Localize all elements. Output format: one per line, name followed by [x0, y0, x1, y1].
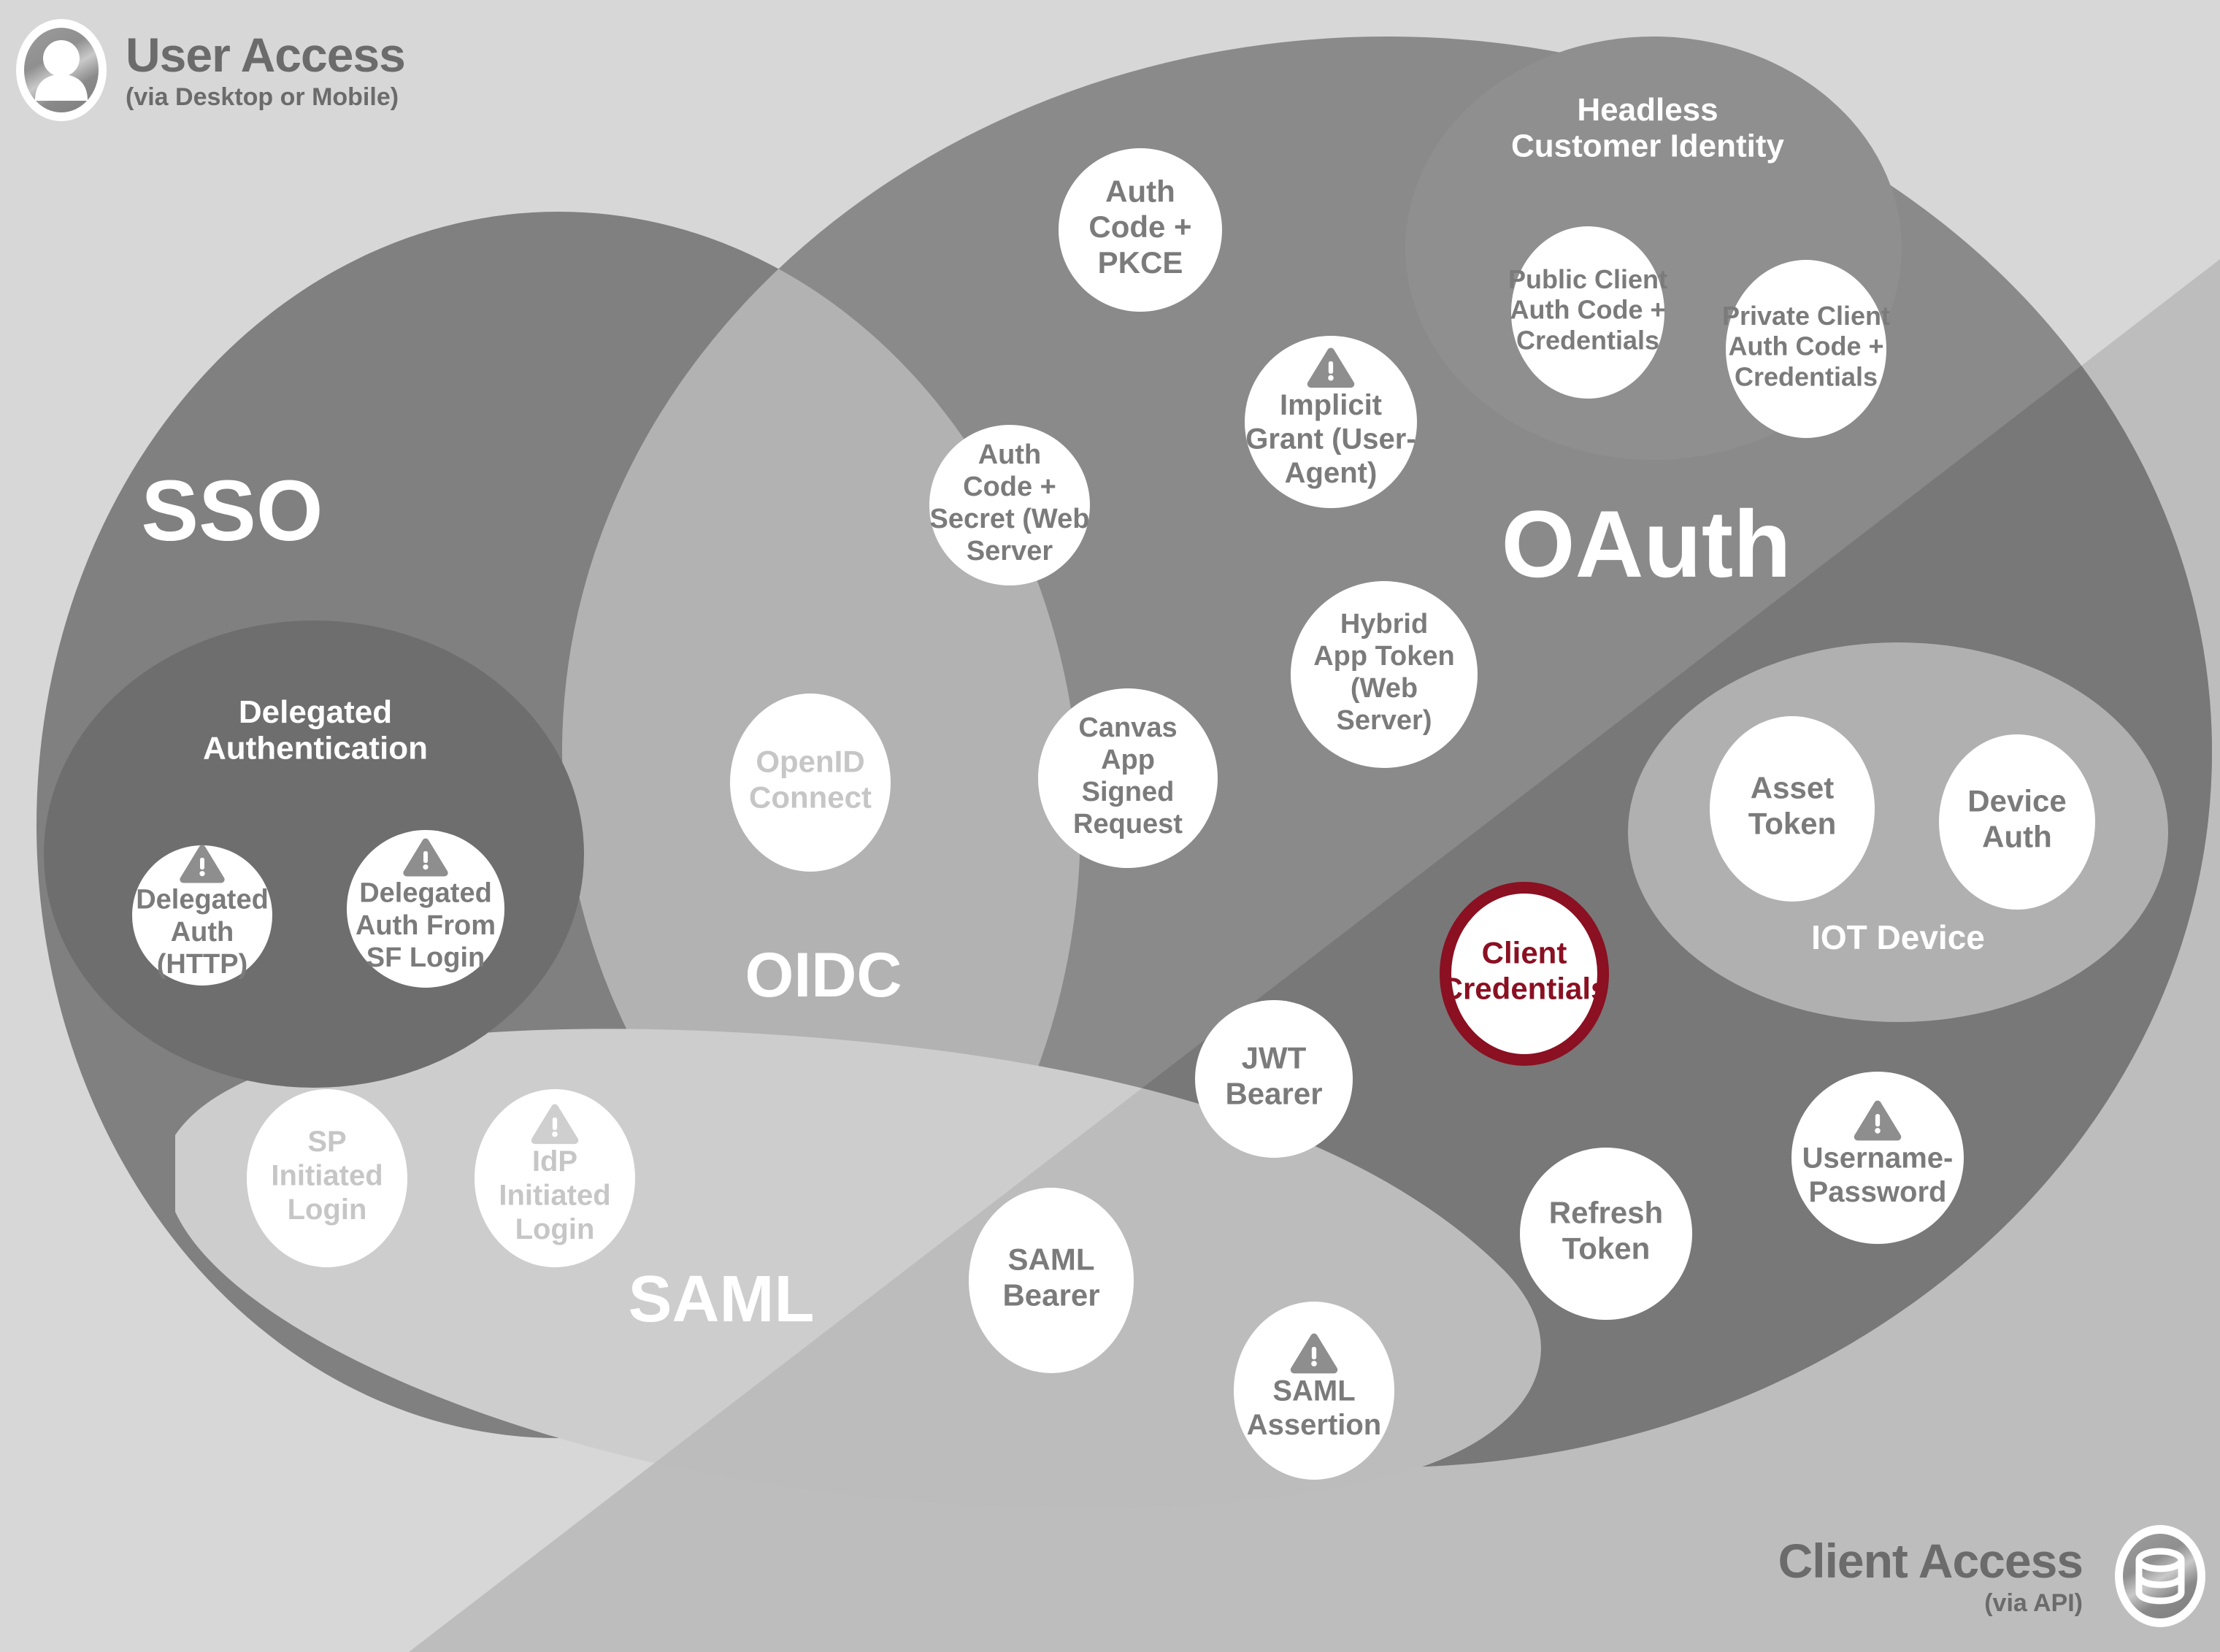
client-access-title: Client Access: [1778, 1537, 2083, 1585]
bubble-canvas-app[interactable]: CanvasAppSignedRequest: [1038, 688, 1218, 868]
user-access-subtitle: (via Desktop or Mobile): [126, 85, 405, 110]
region-label-oidc: OIDC: [745, 940, 902, 1010]
bubble-saml-assertion[interactable]: SAMLAssertion: [1234, 1302, 1394, 1480]
bubble-saml-bearer[interactable]: SAMLBearer: [969, 1188, 1134, 1373]
user-access-title: User Access: [126, 31, 405, 79]
svg-text:IOT Device: IOT Device: [1811, 918, 1985, 956]
bubble-idp-initiated-login[interactable]: IdPInitiatedLogin: [475, 1089, 635, 1267]
identity-flows-diagram: SSOOAuthOIDCSAMLDelegatedAuthenticationH…: [0, 0, 2220, 1652]
user-access-header: User Access (via Desktop or Mobile): [16, 19, 405, 121]
region-label-sso: SSO: [141, 463, 323, 559]
bubble-delegated-auth-sf[interactable]: DelegatedAuth FromSF Login: [347, 830, 504, 988]
bubble-jwt-bearer[interactable]: JWTBearer: [1195, 1000, 1353, 1158]
bubble-label: Public ClientAuth Code +Credentials: [1508, 264, 1667, 356]
svg-text:OIDC: OIDC: [745, 940, 902, 1010]
bubble-auth-code-pkce[interactable]: AuthCode +PKCE: [1059, 148, 1222, 312]
bubble-openid-connect[interactable]: OpenIDConnect: [730, 694, 891, 872]
bubble-label: Private ClientAuth Code +Credentials: [1722, 301, 1890, 392]
bubble-label: AssetToken: [1748, 771, 1837, 841]
region-label-saml: SAML: [629, 1263, 815, 1336]
bubble-hybrid-app-token[interactable]: HybridApp Token(WebServer): [1291, 581, 1478, 768]
bubble-label: RefreshToken: [1549, 1196, 1663, 1266]
bubble-auth-code-secret[interactable]: AuthCode +Secret (WebServer: [929, 425, 1090, 585]
user-avatar-icon: [16, 19, 107, 121]
svg-text:SAML: SAML: [629, 1263, 815, 1336]
svg-text:SSO: SSO: [141, 463, 323, 559]
bubble-label: DeviceAuth: [1967, 784, 2066, 854]
client-access-header: Client Access (via API): [1778, 1525, 2205, 1627]
bubble-username-password[interactable]: Username-Password: [1791, 1072, 1964, 1244]
bubble-delegated-auth-http[interactable]: DelegatedAuth(HTTP): [132, 845, 272, 986]
bubble-device-auth[interactable]: DeviceAuth: [1939, 734, 2095, 910]
bubble-implicit-grant[interactable]: ImplicitGrant (User-Agent): [1245, 336, 1417, 508]
delegated-authentication-region: [44, 621, 584, 1088]
client-access-subtitle: (via API): [1984, 1591, 2083, 1615]
bubble-label: DelegatedAuth FromSF Login: [356, 878, 496, 973]
svg-text:OAuth: OAuth: [1501, 491, 1791, 597]
diagram-canvas: SSOOAuthOIDCSAMLDelegatedAuthenticationH…: [0, 0, 2220, 1652]
region-label-oauth: OAuth: [1501, 491, 1791, 597]
bubble-client-credentials[interactable]: ClientCredentials: [1441, 888, 1608, 1060]
database-icon: [2115, 1525, 2205, 1627]
bubble-label: OpenIDConnect: [749, 745, 872, 815]
bubble-label: SAMLBearer: [1002, 1242, 1099, 1313]
bubble-sp-initiated-login[interactable]: SPInitiatedLogin: [247, 1089, 407, 1267]
bubble-refresh-token[interactable]: RefreshToken: [1520, 1148, 1692, 1320]
bubble-asset-token[interactable]: AssetToken: [1710, 716, 1875, 902]
region-label-iot: IOT Device: [1811, 918, 1985, 956]
